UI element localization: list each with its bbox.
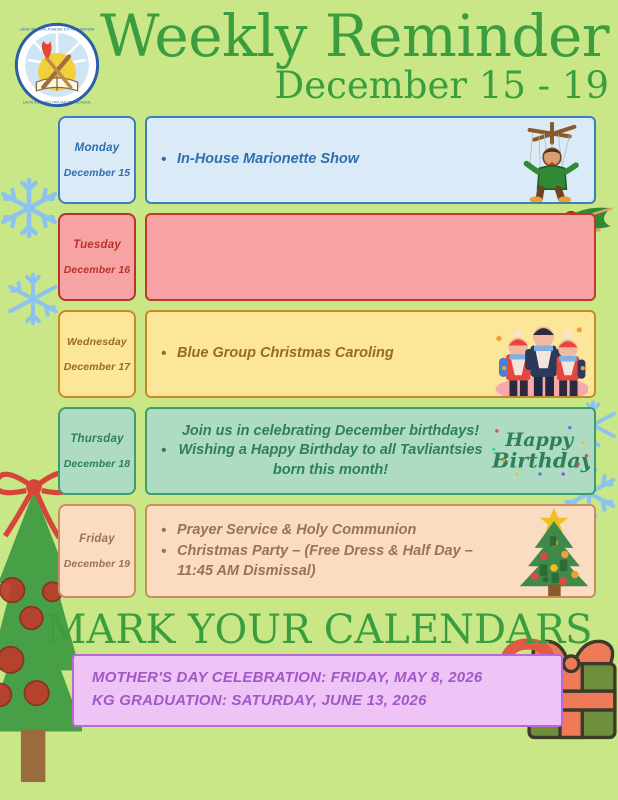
weekly-schedule: Monday December 15 • In-House Marionette… bbox=[58, 116, 596, 598]
day-row-thursday: Thursday December 18 • Join us in celebr… bbox=[58, 407, 596, 495]
day-date: December 19 bbox=[64, 558, 130, 570]
event-item: • Join us in celebrating December birthd… bbox=[161, 422, 580, 480]
day-date: December 17 bbox=[64, 361, 130, 373]
day-name: Friday bbox=[79, 533, 115, 545]
day-name: Tuesday bbox=[73, 239, 121, 251]
day-date: December 15 bbox=[64, 167, 130, 179]
day-row-wednesday: Wednesday December 17 • Blue Group Chris… bbox=[58, 310, 596, 398]
bullet-icon: • bbox=[161, 150, 177, 170]
event-text: Blue Group Christmas Caroling bbox=[177, 344, 580, 363]
event-item: • In-House Marionette Show bbox=[161, 150, 580, 170]
snowflake-icon bbox=[0, 175, 62, 241]
notice-line: KG GRADUATION: SATURDAY, JUNE 13, 2026 bbox=[92, 690, 543, 713]
school-seal-logo: LAND OF HOPE PSALMS 107 FOUNDATION LEVIS… bbox=[14, 22, 100, 108]
day-name: Wednesday bbox=[67, 336, 127, 348]
day-events-thursday: • Join us in celebrating December birthd… bbox=[145, 407, 596, 495]
event-item: • Prayer Service & Holy Communion bbox=[161, 521, 580, 541]
weekly-reminder-poster: LAND OF HOPE PSALMS 107 FOUNDATION LEVIS… bbox=[0, 0, 618, 800]
day-label-friday: Friday December 19 bbox=[58, 504, 136, 598]
day-label-wednesday: Wednesday December 17 bbox=[58, 310, 136, 398]
notice-box: MOTHER'S DAY CELEBRATION: FRIDAY, MAY 8,… bbox=[72, 654, 563, 727]
page-title: Weekly Reminder bbox=[100, 8, 609, 65]
day-events-friday: • Prayer Service & Holy Communion • Chri… bbox=[145, 504, 596, 598]
bullet-icon: • bbox=[161, 521, 177, 541]
day-label-monday: Monday December 15 bbox=[58, 116, 136, 204]
event-text: Christmas Party – (Free Dress & Half Day… bbox=[177, 542, 500, 581]
notice-line: MOTHER'S DAY CELEBRATION: FRIDAY, MAY 8,… bbox=[92, 667, 543, 690]
day-events-monday: • In-House Marionette Show bbox=[145, 116, 596, 204]
day-row-monday: Monday December 15 • In-House Marionette… bbox=[58, 116, 596, 204]
day-label-tuesday: Tuesday December 16 bbox=[58, 213, 136, 301]
day-events-wednesday: • Blue Group Christmas Caroling bbox=[145, 310, 596, 398]
title-block: Weekly Reminder December 15 - 19 bbox=[100, 8, 618, 106]
snowflake-icon bbox=[4, 270, 62, 328]
day-name: Thursday bbox=[70, 433, 123, 445]
event-text: Prayer Service & Holy Communion bbox=[177, 521, 500, 540]
event-item: • Christmas Party – (Free Dress & Half D… bbox=[161, 542, 580, 581]
logo-text-bottom: LEVIS & ELIMES TAVLIAN PRE-SCHOOL bbox=[23, 101, 91, 105]
day-date: December 18 bbox=[64, 458, 130, 470]
bullet-icon: • bbox=[161, 344, 177, 364]
bullet-icon: • bbox=[161, 441, 177, 461]
day-events-tuesday bbox=[145, 213, 596, 301]
event-text: Join us in celebrating December birthday… bbox=[177, 422, 580, 480]
event-item: • Blue Group Christmas Caroling bbox=[161, 344, 580, 364]
day-row-friday: Friday December 19 • Prayer Service & Ho… bbox=[58, 504, 596, 598]
day-label-thursday: Thursday December 18 bbox=[58, 407, 136, 495]
bullet-icon: • bbox=[161, 542, 177, 562]
logo-text-top: LAND OF HOPE PSALMS 107 FOUNDATION bbox=[20, 28, 95, 32]
poster-header: LAND OF HOPE PSALMS 107 FOUNDATION LEVIS… bbox=[0, 0, 618, 110]
date-range: December 15 - 19 bbox=[100, 67, 609, 106]
day-date: December 16 bbox=[64, 264, 130, 276]
day-name: Monday bbox=[75, 142, 120, 154]
day-row-tuesday: Tuesday December 16 bbox=[58, 213, 596, 301]
mark-calendars-heading: MARK YOUR CALENDARS bbox=[0, 607, 618, 653]
event-text: In-House Marionette Show bbox=[177, 150, 580, 169]
